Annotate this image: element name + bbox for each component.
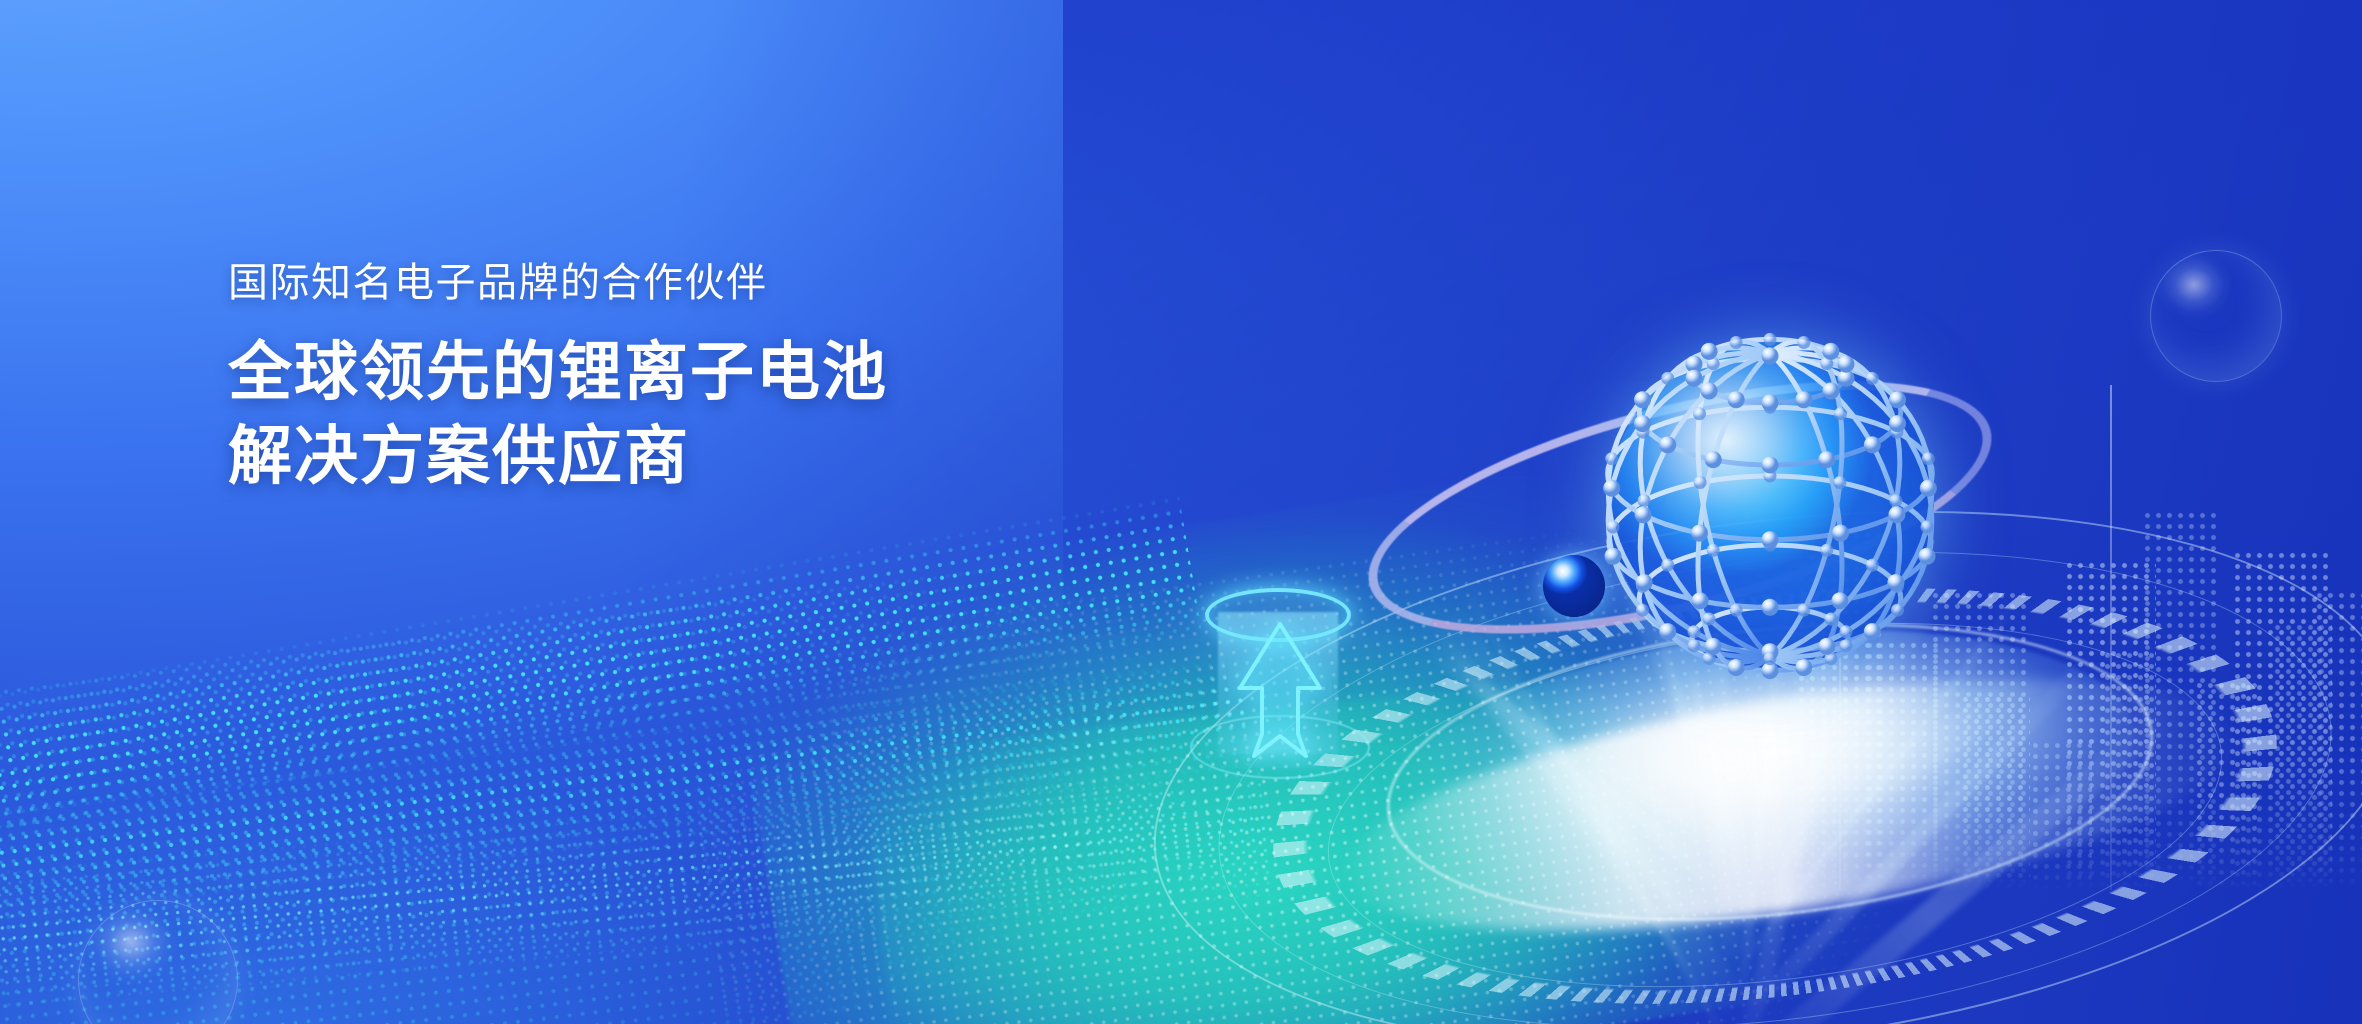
globe-node <box>1636 574 1653 591</box>
globe-node <box>1605 548 1622 565</box>
wireframe-globe-icon <box>1560 300 1980 720</box>
globe-node <box>1891 604 1904 617</box>
globe-node <box>1762 531 1779 548</box>
banner-headline: 全球领先的锂离子电池 解决方案供应商 <box>228 330 888 499</box>
globe-node <box>1889 494 1902 507</box>
globe-node <box>1707 544 1720 557</box>
globe-node <box>1762 457 1779 474</box>
globe-node <box>1838 356 1855 373</box>
globe-node <box>1922 452 1935 465</box>
globe-node <box>1728 391 1745 408</box>
globe-node <box>1864 436 1881 453</box>
globe-node <box>1795 659 1812 676</box>
globe-node <box>1840 639 1853 652</box>
globe-node <box>1605 452 1618 465</box>
globe-node <box>1762 394 1779 411</box>
globe-node <box>1889 415 1906 432</box>
globe-node <box>1661 372 1674 385</box>
globe-node <box>1694 476 1707 489</box>
globe-node <box>1692 592 1709 609</box>
globe-node <box>1705 451 1722 468</box>
globe-node <box>1701 343 1718 360</box>
hero-banner: 国际知名电子品牌的合作伙伴 全球领先的锂离子电池 解决方案供应商 <box>0 0 2362 1024</box>
globe-node <box>1688 639 1701 652</box>
globe-node <box>1728 659 1745 676</box>
globe-node <box>1764 652 1777 665</box>
globe-node <box>1797 336 1810 349</box>
globe-node <box>1887 574 1904 591</box>
globe-node <box>1921 521 1934 534</box>
globe-node <box>1603 480 1620 497</box>
globe-node <box>1864 623 1881 640</box>
orbit-node-sphere-icon <box>1543 555 1605 617</box>
headline-line-1: 全球领先的锂离子电池 <box>228 330 888 414</box>
globe-node <box>1638 494 1651 507</box>
globe-node <box>1824 613 1837 626</box>
globe-node <box>1822 383 1839 400</box>
globe-node <box>1634 415 1651 432</box>
globe-node <box>1659 623 1676 640</box>
globe-node <box>1840 625 1853 638</box>
banner-copy: 国际知名电子品牌的合作伙伴 全球领先的锂离子电池 解决方案供应商 <box>228 258 888 499</box>
globe-node <box>1730 336 1743 349</box>
globe-node <box>1822 343 1839 360</box>
globe-node <box>1833 476 1846 489</box>
globe-node <box>1866 372 1879 385</box>
globe-node <box>1636 604 1649 617</box>
globe-node <box>1634 391 1651 408</box>
globe-node <box>1820 544 1833 557</box>
globe-node <box>1762 347 1779 364</box>
globe-node <box>1705 638 1722 655</box>
globe-node <box>1818 451 1835 468</box>
globe-node <box>1688 625 1701 638</box>
globe-node <box>1686 370 1703 387</box>
globe-node <box>1661 559 1674 572</box>
globe-node <box>1607 521 1620 534</box>
globe-node <box>1920 480 1937 497</box>
globe-node <box>1831 592 1848 609</box>
globe-node <box>1701 383 1718 400</box>
globe-wireframe-svg <box>1560 300 1980 720</box>
globe-node <box>1691 525 1708 542</box>
globe-node <box>1866 559 1879 572</box>
globe-node <box>1703 613 1716 626</box>
globe-node <box>1730 604 1743 617</box>
globe-node <box>1764 333 1777 346</box>
globe-node <box>1888 506 1905 523</box>
globe-node <box>1659 436 1676 453</box>
globe-node <box>1693 407 1706 420</box>
globe-node <box>1762 599 1779 616</box>
headline-line-2: 解决方案供应商 <box>228 414 888 498</box>
globe-node <box>1832 525 1849 542</box>
globe-node <box>1795 391 1812 408</box>
banner-subtitle: 国际知名电子品牌的合作伙伴 <box>228 258 888 308</box>
bubble-icon-top-right <box>2150 250 2282 382</box>
globe-node <box>1919 548 1936 565</box>
globe-node <box>1889 391 1906 408</box>
globe-node <box>1834 407 1847 420</box>
upward-arrow-icon <box>1228 616 1332 768</box>
globe-node <box>1797 604 1810 617</box>
globe-node <box>1635 506 1652 523</box>
globe-node <box>1818 638 1835 655</box>
